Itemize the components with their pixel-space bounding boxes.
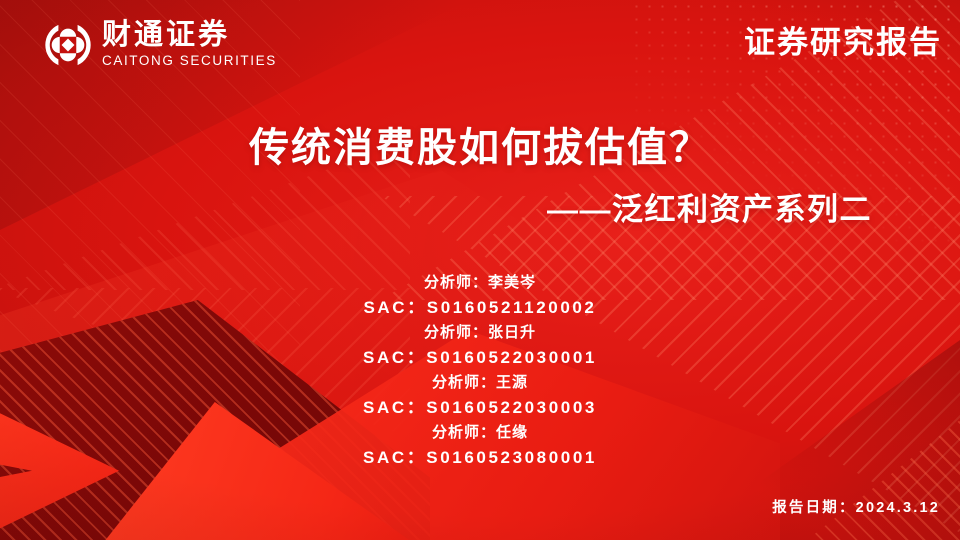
caitong-emblem-icon [44,21,92,69]
analyst-sac: SAC：S0160523080001 [0,445,960,470]
logo-name-cn: 财通证券 [102,20,277,50]
report-cover-slide: 财通证券 CAITONG SECURITIES 证券研究报告 传统消费股如何拔估… [0,0,960,540]
company-logo: 财通证券 CAITONG SECURITIES [44,20,277,69]
page-title: 传统消费股如何拔估值？ [0,123,960,173]
analyst-sac: SAC：S0160521120002 [0,295,960,320]
analyst-list: 分析师：李美岑 SAC：S0160521120002 分析师：张日升 SAC：S… [0,270,960,470]
logo-name-en: CAITONG SECURITIES [102,53,277,69]
analyst-sac: SAC：S0160522030001 [0,345,960,370]
cover-content: 财通证券 CAITONG SECURITIES 证券研究报告 传统消费股如何拔估… [0,0,960,540]
logo-wordmark: 财通证券 CAITONG SECURITIES [102,20,277,69]
report-type-label: 证券研究报告 [744,25,942,61]
analyst-sac: SAC：S0160522030003 [0,395,960,420]
analyst-name: 分析师：任缘 [0,420,960,445]
report-date: 报告日期：2024.3.12 [772,498,940,518]
analyst-name: 分析师：李美岑 [0,270,960,295]
page-subtitle: ——泛红利资产系列二 [547,189,872,231]
analyst-name: 分析师：张日升 [0,320,960,345]
analyst-name: 分析师：王源 [0,370,960,395]
